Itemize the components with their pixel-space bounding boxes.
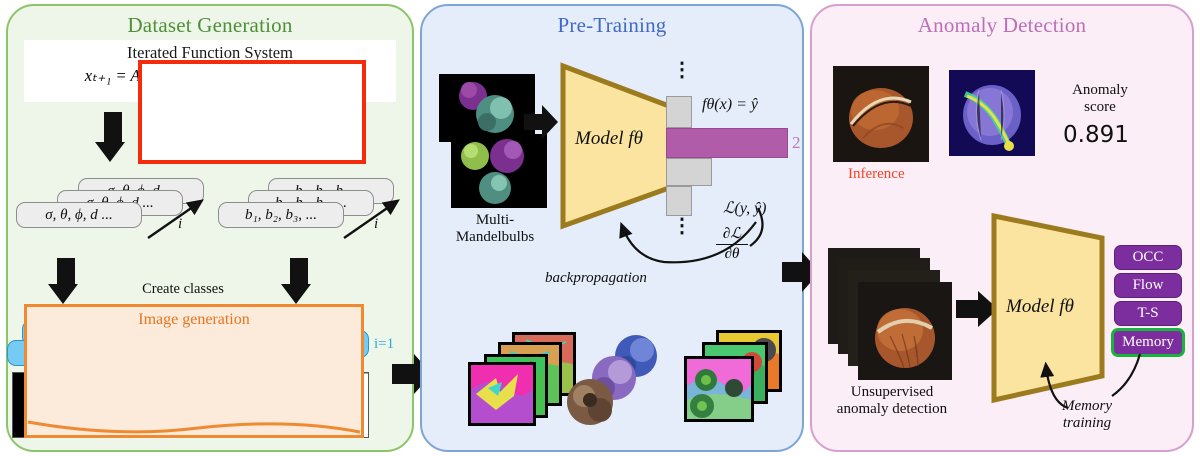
inference-label: Inference <box>848 166 905 183</box>
output-bar-4 <box>666 186 692 216</box>
model-label-pretraining: Model fθ <box>575 128 643 150</box>
image-generation-title: Image generation <box>27 311 361 329</box>
arrow-input-to-model-icon <box>524 104 560 140</box>
backpropagation-arrow-icon <box>604 216 764 272</box>
prediction-label: fθ(x) = ŷ <box>702 96 758 114</box>
anomaly-score-value: 0.891 <box>1063 122 1129 148</box>
input-image-mandelbulb-1 <box>439 74 535 142</box>
output-bar-highlighted <box>666 128 788 158</box>
generated-images-collage <box>466 330 784 428</box>
index-label-left: i <box>178 216 182 233</box>
backpropagation-label: backpropagation <box>545 270 647 287</box>
method-badge-flow[interactable]: Flow <box>1114 273 1182 298</box>
param-stack-sigma-1: σ, θ, ϕ, d ... <box>16 202 142 228</box>
memory-training-label: Memory training <box>1062 398 1112 431</box>
model-label-anomaly: Model fθ <box>1006 296 1074 318</box>
class-index-right-1: i=1 <box>374 336 394 353</box>
method-badge-label: T-S <box>1137 305 1158 322</box>
index-arrow-right-icon <box>338 196 408 242</box>
unsupervised-image-1 <box>858 282 952 380</box>
highlight-class-label: 2 <box>792 133 801 153</box>
output-bar-1 <box>666 96 692 128</box>
loss-connector-icon <box>748 206 808 250</box>
panel-title-dataset: Dataset Generation <box>8 13 412 38</box>
imggen-wave-divider <box>28 418 360 438</box>
create-classes-label: Create classes <box>118 281 248 297</box>
method-badge-label: Memory <box>1122 334 1174 351</box>
param-text: σ, θ, ϕ, d ... <box>45 207 113 224</box>
method-badge-ts[interactable]: T-S <box>1114 301 1182 326</box>
param-stack-b-1: b₁, b₂, b₃, ... <box>218 202 344 228</box>
input-image-mandelbulb-2 <box>451 134 547 208</box>
anomaly-heatmap-image <box>949 70 1035 156</box>
index-label-right: i <box>374 216 378 233</box>
method-badge-label: Flow <box>1133 277 1164 294</box>
method-badge-occ[interactable]: OCC <box>1114 245 1182 270</box>
anomaly-score-label: Anomaly score <box>1050 82 1150 117</box>
param-text: b₁, b₂, b₃, ... <box>245 207 317 224</box>
anomaly-score-box <box>138 60 366 164</box>
panel-title-pretraining: Pre-Training <box>422 13 802 38</box>
inference-input-image <box>833 66 929 162</box>
unsupervised-anomaly-detection-label: Unsupervised anomaly detection <box>822 384 962 418</box>
panel-title-anomaly: Anomaly Detection <box>812 13 1192 38</box>
figure-canvas: Dataset Generation Iterated Function Sys… <box>0 0 1200 456</box>
index-arrow-left-icon <box>142 196 212 242</box>
output-bar-3 <box>666 158 712 186</box>
vdots-top-icon: ⋮ <box>672 66 688 74</box>
method-badge-label: OCC <box>1133 249 1164 266</box>
multi-mandelbulbs-label: Multi- Mandelbulbs <box>440 212 550 246</box>
